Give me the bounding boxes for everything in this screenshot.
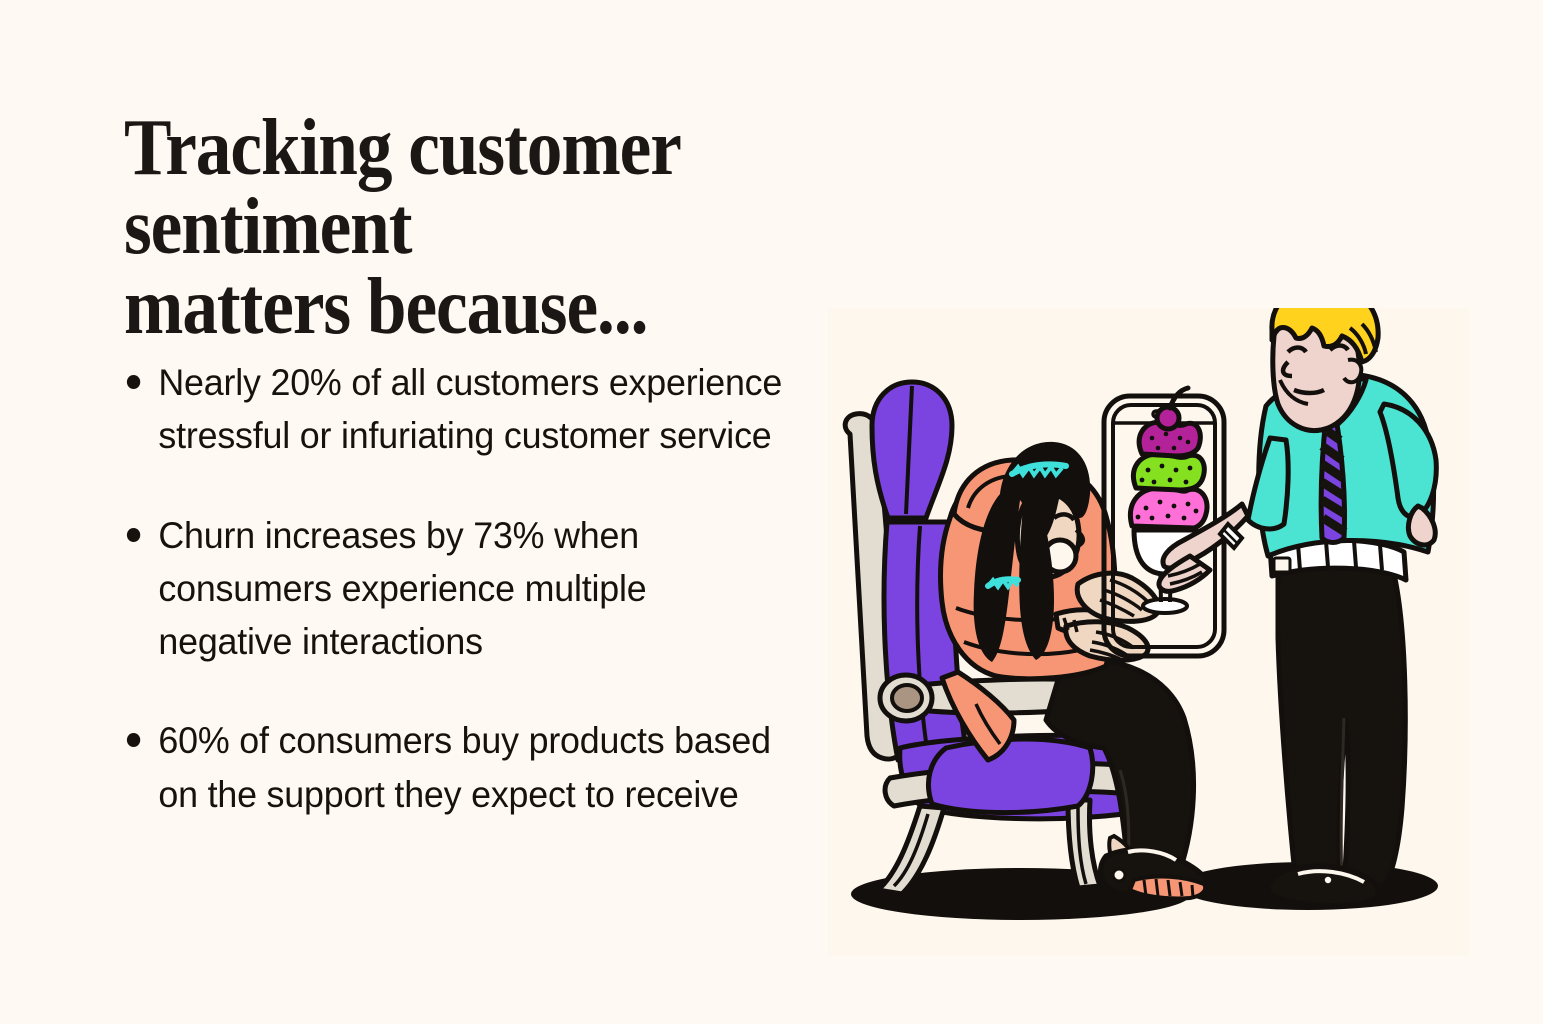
customer-service-sundae-illustration: [828, 308, 1469, 956]
list-item: Nearly 20% of all customers experience s…: [124, 356, 783, 463]
illustration-panel: [828, 308, 1469, 956]
bullet-dot-icon: [127, 528, 140, 542]
infographic-canvas: Tracking customer sentiment matters beca…: [0, 0, 1543, 1024]
text-column: Tracking customer sentiment matters beca…: [124, 108, 814, 346]
list-item: Churn increases by 73% when consumers ex…: [124, 509, 783, 669]
list-item-label: 60% of consumers buy products based on t…: [158, 719, 770, 814]
sundae-glass-foot: [1143, 599, 1187, 613]
list-item-label: Nearly 20% of all customers experience s…: [158, 361, 782, 456]
list-item: 60% of consumers buy products based on t…: [124, 714, 783, 821]
bullet-dot-icon: [127, 733, 140, 747]
page-title: Tracking customer sentiment matters beca…: [124, 108, 731, 346]
bullet-dot-icon: [127, 375, 140, 389]
list-item-label: Churn increases by 73% when consumers ex…: [158, 514, 646, 663]
cherry-icon: [1157, 407, 1179, 429]
statistics-list: Nearly 20% of all customers experience s…: [124, 356, 814, 821]
